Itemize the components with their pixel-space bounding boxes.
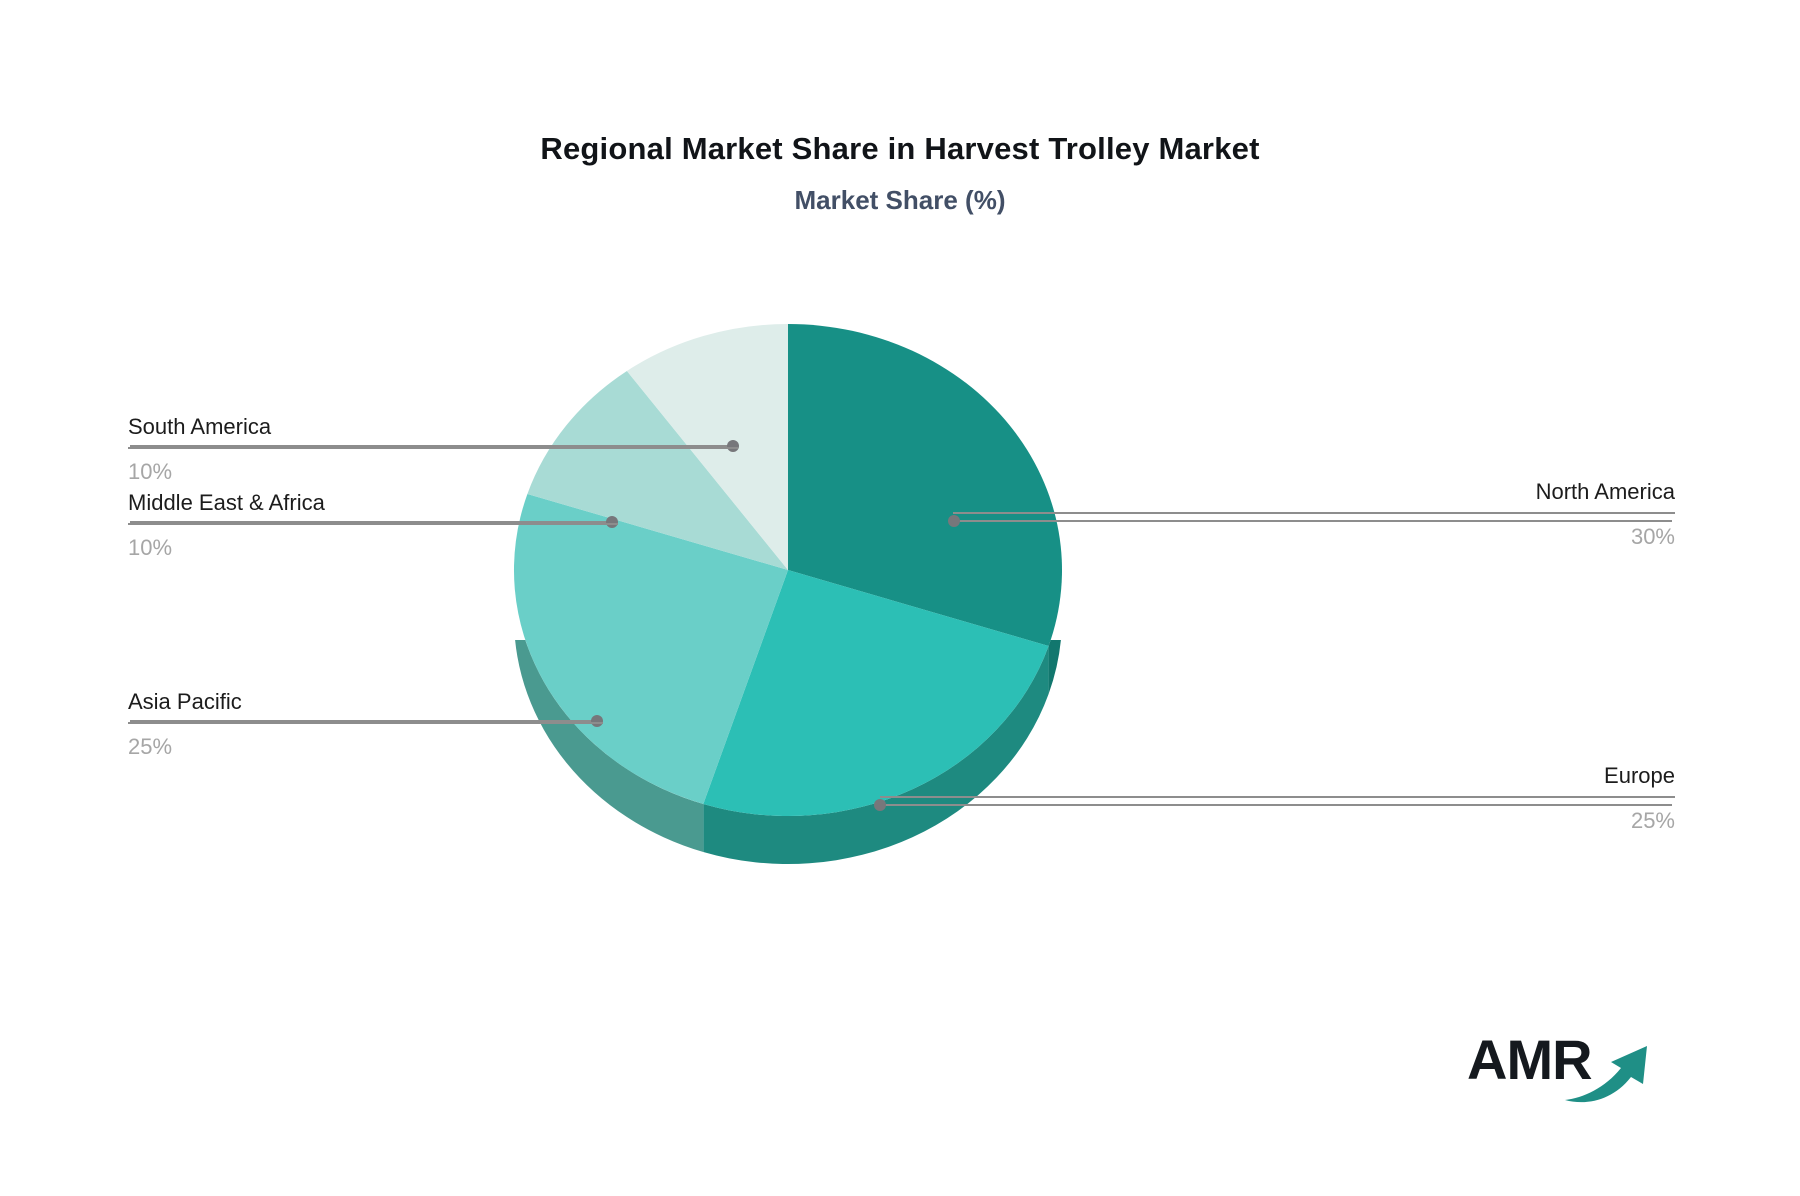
callout-label-europe: Europe	[880, 762, 1675, 796]
callout-value-europe: 25%	[880, 798, 1675, 835]
callout-value-south-america: 10%	[128, 449, 738, 486]
growth-arrow-icon	[1563, 1038, 1663, 1106]
callout-label-north-america: North America	[953, 478, 1675, 512]
callout-middle-east-africa: Middle East & Africa 10%	[128, 489, 618, 561]
amr-logo: AMR	[1467, 1030, 1657, 1110]
callout-europe: Europe 25%	[880, 762, 1675, 834]
callout-value-middle-east-africa: 10%	[128, 525, 618, 562]
callout-asia-pacific: Asia Pacific 25%	[128, 688, 603, 760]
callout-label-south-america: South America	[128, 413, 738, 447]
pie-graphic	[0, 0, 1800, 1196]
pie-chart-figure: Regional Market Share in Harvest Trolley…	[0, 0, 1800, 1196]
callout-value-north-america: 30%	[953, 514, 1675, 551]
callout-label-middle-east-africa: Middle East & Africa	[128, 489, 618, 523]
callout-value-asia-pacific: 25%	[128, 724, 603, 761]
callout-north-america: North America 30%	[953, 478, 1675, 550]
callout-south-america: South America 10%	[128, 413, 738, 485]
callout-label-asia-pacific: Asia Pacific	[128, 688, 603, 722]
